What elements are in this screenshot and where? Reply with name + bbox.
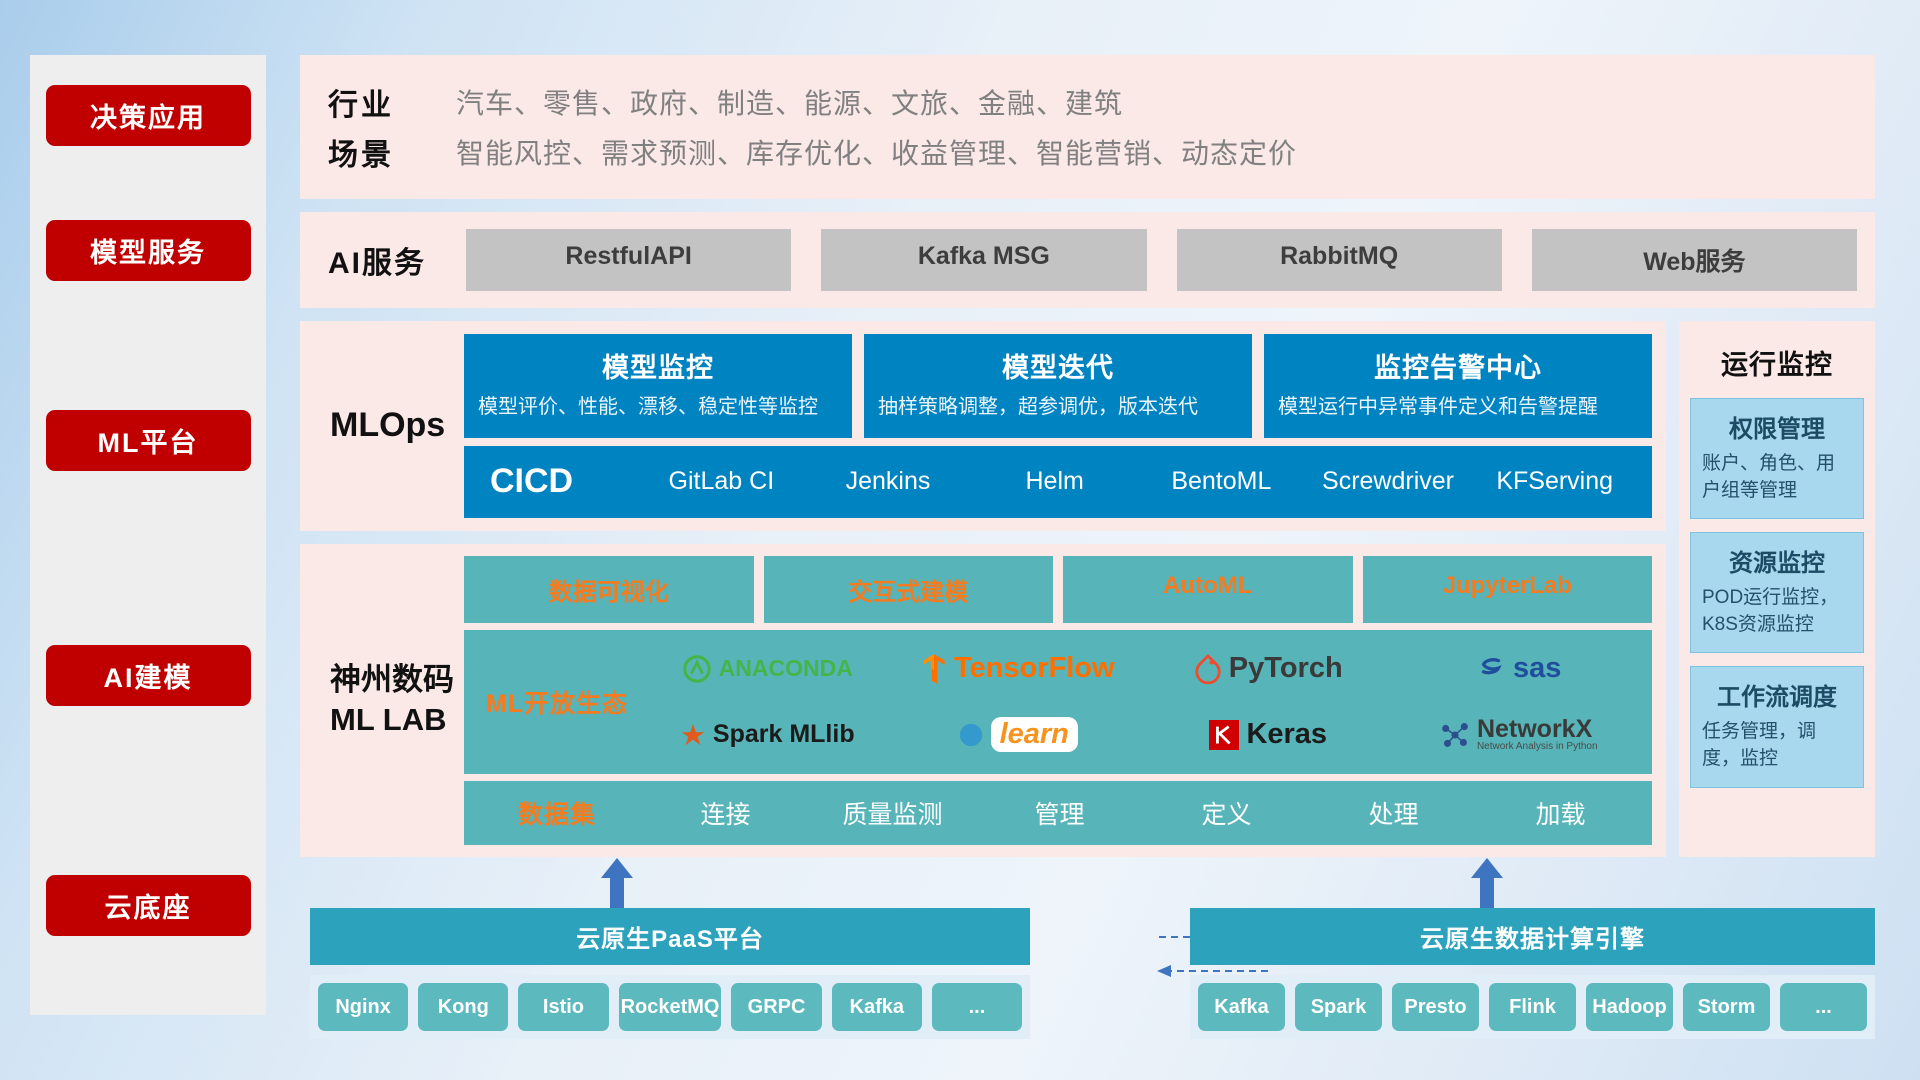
paas-title-bar: 云原生PaaS平台: [310, 908, 1030, 965]
ml-lab-label-line2: ML LAB: [330, 702, 447, 737]
rail-slot-model-service: 模型服务: [30, 175, 266, 325]
ml-ecosystem-label: ML开放生态: [472, 684, 642, 720]
card-title: 模型监控: [478, 346, 838, 385]
scikit-learn-logo: learn: [893, 702, 1144, 768]
platform-left: MLOps 模型监控 模型评价、性能、漂移、稳定性等监控 模型迭代 抽样策略调整…: [300, 321, 1666, 857]
engine-chip-spark[interactable]: Spark: [1295, 983, 1382, 1031]
monitor-card-desc: 账户、角色、用户组等管理: [1702, 451, 1852, 504]
tensorflow-logo: TensorFlow: [893, 636, 1144, 702]
card-title: 监控告警中心: [1278, 346, 1638, 385]
layer-rail: 决策应用 模型服务 ML平台 AI建模 云底座: [30, 55, 266, 1015]
scikit-circle-icon: [958, 722, 984, 748]
anaconda-logo: ANACONDA: [642, 636, 893, 702]
cicd-item-list: GitLab CI Jenkins Helm BentoML Screwdriv…: [638, 468, 1638, 494]
mlops-card-alert-center[interactable]: 监控告警中心 模型运行中异常事件定义和告警提醒: [1264, 334, 1652, 438]
rail-chip-cloud-base[interactable]: 云底座: [46, 875, 251, 936]
monitor-card-desc: 任务管理，调度，监控: [1702, 719, 1852, 772]
cicd-row: CICD GitLab CI Jenkins Helm BentoML Scre…: [464, 446, 1652, 518]
dataset-item-process[interactable]: 处理: [1310, 795, 1477, 831]
paas-chip-strip: Nginx Kong Istio RocketMQ GRPC Kafka ...: [310, 975, 1030, 1039]
data-engine-title-bar: 云原生数据计算引擎: [1190, 908, 1875, 965]
monitor-card-resource[interactable]: 资源监控 POD运行监控，K8S资源监控: [1690, 532, 1864, 653]
sas-logo: sas: [1394, 636, 1645, 702]
sas-mark-icon: [1476, 655, 1506, 683]
ai-service-label: AI服务: [318, 238, 466, 282]
keras-logo: Keras: [1143, 702, 1394, 768]
tensorflow-mark-icon: [921, 653, 947, 685]
mlops-label: MLOps: [314, 334, 464, 518]
ai-service-layer: AI服务 RestfulAPI Kafka MSG RabbitMQ Web服务: [300, 212, 1875, 308]
networkx-logo-subtitle: Network Analysis in Python: [1477, 742, 1598, 752]
engine-chip-more[interactable]: ...: [1780, 983, 1867, 1031]
mlops-card-model-monitoring[interactable]: 模型监控 模型评价、性能、漂移、稳定性等监控: [464, 334, 852, 438]
engine-chip-storm[interactable]: Storm: [1683, 983, 1770, 1031]
dataset-item-load[interactable]: 加载: [1477, 795, 1644, 831]
tool-jupyterlab[interactable]: JupyterLab: [1363, 556, 1653, 623]
engine-chip-kafka[interactable]: Kafka: [1198, 983, 1285, 1031]
spark-mllib-logo: Spark MLlib: [642, 702, 893, 768]
paas-chip-kafka[interactable]: Kafka: [832, 983, 922, 1031]
ml-ecosystem-row: ML开放生态 ANACONDA: [464, 630, 1652, 774]
networkx-logo: NetworkX Network Analysis in Python: [1394, 702, 1645, 768]
anaconda-logo-text: ANACONDA: [719, 655, 853, 682]
platform-section: MLOps 模型监控 模型评价、性能、漂移、稳定性等监控 模型迭代 抽样策略调整…: [300, 321, 1875, 857]
spark-star-icon: [680, 722, 706, 748]
paas-chip-rocketmq[interactable]: RocketMQ: [619, 983, 722, 1031]
monitor-card-permission[interactable]: 权限管理 账户、角色、用户组等管理: [1690, 398, 1864, 519]
networkx-logo-text: NetworkX: [1477, 717, 1598, 742]
rail-slot-cloud-base: 云底座: [30, 795, 266, 1015]
service-chip-kafka-msg[interactable]: Kafka MSG: [821, 229, 1146, 291]
dataset-item-manage[interactable]: 管理: [976, 795, 1143, 831]
card-desc: 模型评价、性能、漂移、稳定性等监控: [478, 394, 838, 422]
ai-service-chip-list: RestfulAPI Kafka MSG RabbitMQ Web服务: [466, 229, 1857, 291]
mlops-layer: MLOps 模型监控 模型评价、性能、漂移、稳定性等监控 模型迭代 抽样策略调整…: [300, 321, 1666, 531]
runtime-monitor-title: 运行监控: [1690, 333, 1864, 398]
dataset-row: 数据集 连接 质量监测 管理 定义 处理 加载: [464, 781, 1652, 845]
industry-row: 行业 汽车、零售、政府、制造、能源、文旅、金融、建筑: [328, 77, 1857, 127]
rail-slot-ai-modeling: AI建模: [30, 555, 266, 795]
cloud-base-layer: 云原生PaaS平台 Nginx Kong Istio RocketMQ GRPC…: [300, 880, 1875, 1045]
ml-ecosystem-logos: ANACONDA TensorFlow: [642, 636, 1644, 768]
ml-lab-content: 数据可视化 交互式建模 AutoML JupyterLab ML开放生态: [464, 556, 1652, 845]
cicd-item-bentoml[interactable]: BentoML: [1138, 468, 1305, 494]
mlops-card-model-iteration[interactable]: 模型迭代 抽样策略调整，超参调优，版本迭代: [864, 334, 1252, 438]
paas-chip-grpc[interactable]: GRPC: [731, 983, 821, 1031]
keras-logo-text: Keras: [1246, 718, 1327, 751]
dataset-item-list: 连接 质量监测 管理 定义 处理 加载: [642, 795, 1644, 831]
cloud-columns: 云原生PaaS平台 Nginx Kong Istio RocketMQ GRPC…: [300, 880, 1875, 1045]
paas-chip-nginx[interactable]: Nginx: [318, 983, 408, 1031]
data-engine-chip-strip: Kafka Spark Presto Flink Hadoop Storm ..…: [1190, 975, 1875, 1039]
card-title: 模型迭代: [878, 346, 1238, 385]
card-desc: 抽样策略调整，超参调优，版本迭代: [878, 394, 1238, 422]
anaconda-mark-icon: [682, 654, 712, 684]
dataset-item-quality-monitor[interactable]: 质量监测: [809, 795, 976, 831]
scenario-row: 场景 智能风控、需求预测、库存优化、收益管理、智能营销、动态定价: [328, 127, 1857, 177]
monitor-card-title: 资源监控: [1702, 543, 1852, 578]
architecture-main: 行业 汽车、零售、政府、制造、能源、文旅、金融、建筑 场景 智能风控、需求预测、…: [300, 55, 1875, 857]
rail-chip-decision-app[interactable]: 决策应用: [46, 85, 251, 146]
data-engine-column: 云原生数据计算引擎 Kafka Spark Presto Flink Hadoo…: [1190, 908, 1875, 1039]
rail-chip-ai-modeling[interactable]: AI建模: [46, 645, 251, 706]
dataset-item-define[interactable]: 定义: [1143, 795, 1310, 831]
monitor-card-desc: POD运行监控，K8S资源监控: [1702, 585, 1852, 638]
rail-chip-ml-platform[interactable]: ML平台: [46, 410, 251, 471]
engine-chip-flink[interactable]: Flink: [1489, 983, 1576, 1031]
rail-chip-model-service[interactable]: 模型服务: [46, 220, 251, 281]
industry-label: 行业: [328, 80, 456, 124]
pytorch-logo: PyTorch: [1143, 636, 1394, 702]
application-layer: 行业 汽车、零售、政府、制造、能源、文旅、金融、建筑 场景 智能风控、需求预测、…: [300, 55, 1875, 199]
paas-chip-more[interactable]: ...: [932, 983, 1022, 1031]
engine-chip-hadoop[interactable]: Hadoop: [1586, 983, 1673, 1031]
pytorch-logo-text: PyTorch: [1229, 652, 1343, 685]
rail-slot-ml-platform: ML平台: [30, 325, 266, 555]
tool-data-visualization[interactable]: 数据可视化: [464, 556, 754, 623]
service-chip-rabbitmq[interactable]: RabbitMQ: [1177, 229, 1502, 291]
cicd-item-gitlab-ci[interactable]: GitLab CI: [638, 468, 805, 494]
mlops-card-list: 模型监控 模型评价、性能、漂移、稳定性等监控 模型迭代 抽样策略调整，超参调优，…: [464, 334, 1652, 438]
dataset-label: 数据集: [472, 795, 642, 831]
mlops-content: 模型监控 模型评价、性能、漂移、稳定性等监控 模型迭代 抽样策略调整，超参调优，…: [464, 334, 1652, 518]
ml-lab-label: 神州数码 ML LAB: [314, 556, 464, 845]
tool-automl[interactable]: AutoML: [1063, 556, 1353, 623]
scenario-values: 智能风控、需求预测、库存优化、收益管理、智能营销、动态定价: [456, 132, 1297, 172]
monitor-card-title: 权限管理: [1702, 409, 1852, 444]
dataset-item-connect[interactable]: 连接: [642, 795, 809, 831]
rail-slot-decision: 决策应用: [30, 55, 266, 175]
ml-lab-label-line1: 神州数码: [330, 662, 454, 697]
cicd-item-jenkins[interactable]: Jenkins: [805, 468, 972, 494]
sas-logo-text: sas: [1513, 652, 1561, 685]
tensorflow-logo-text: TensorFlow: [954, 652, 1115, 685]
scenario-label: 场景: [328, 130, 456, 174]
service-chip-web-service[interactable]: Web服务: [1532, 229, 1857, 291]
runtime-monitor-panel: 运行监控 权限管理 账户、角色、用户组等管理 资源监控 POD运行监控，K8S资…: [1679, 321, 1875, 857]
service-chip-restfulapi[interactable]: RestfulAPI: [466, 229, 791, 291]
cicd-item-kfserving[interactable]: KFServing: [1471, 468, 1638, 494]
networkx-graph-icon: [1440, 721, 1470, 749]
paas-column: 云原生PaaS平台 Nginx Kong Istio RocketMQ GRPC…: [310, 908, 1030, 1039]
tool-interactive-modeling[interactable]: 交互式建模: [764, 556, 1054, 623]
pytorch-mark-icon: [1194, 654, 1222, 684]
ml-tool-list: 数据可视化 交互式建模 AutoML JupyterLab: [464, 556, 1652, 623]
paas-chip-istio[interactable]: Istio: [518, 983, 608, 1031]
monitor-card-workflow[interactable]: 工作流调度 任务管理，调度，监控: [1690, 666, 1864, 787]
spark-mllib-logo-text: Spark MLlib: [713, 720, 855, 749]
card-desc: 模型运行中异常事件定义和告警提醒: [1278, 394, 1638, 422]
monitor-card-title: 工作流调度: [1702, 677, 1852, 712]
engine-chip-presto[interactable]: Presto: [1392, 983, 1479, 1031]
scikit-learn-logo-text: learn: [991, 717, 1078, 752]
keras-mark-icon: [1209, 720, 1239, 750]
cicd-label: CICD: [478, 462, 638, 501]
industry-values: 汽车、零售、政府、制造、能源、文旅、金融、建筑: [456, 82, 1123, 122]
ai-modeling-layer: 神州数码 ML LAB 数据可视化 交互式建模 AutoML JupyterLa…: [300, 544, 1666, 857]
cicd-item-screwdriver[interactable]: Screwdriver: [1305, 468, 1472, 494]
paas-chip-kong[interactable]: Kong: [418, 983, 508, 1031]
cicd-item-helm[interactable]: Helm: [971, 468, 1138, 494]
